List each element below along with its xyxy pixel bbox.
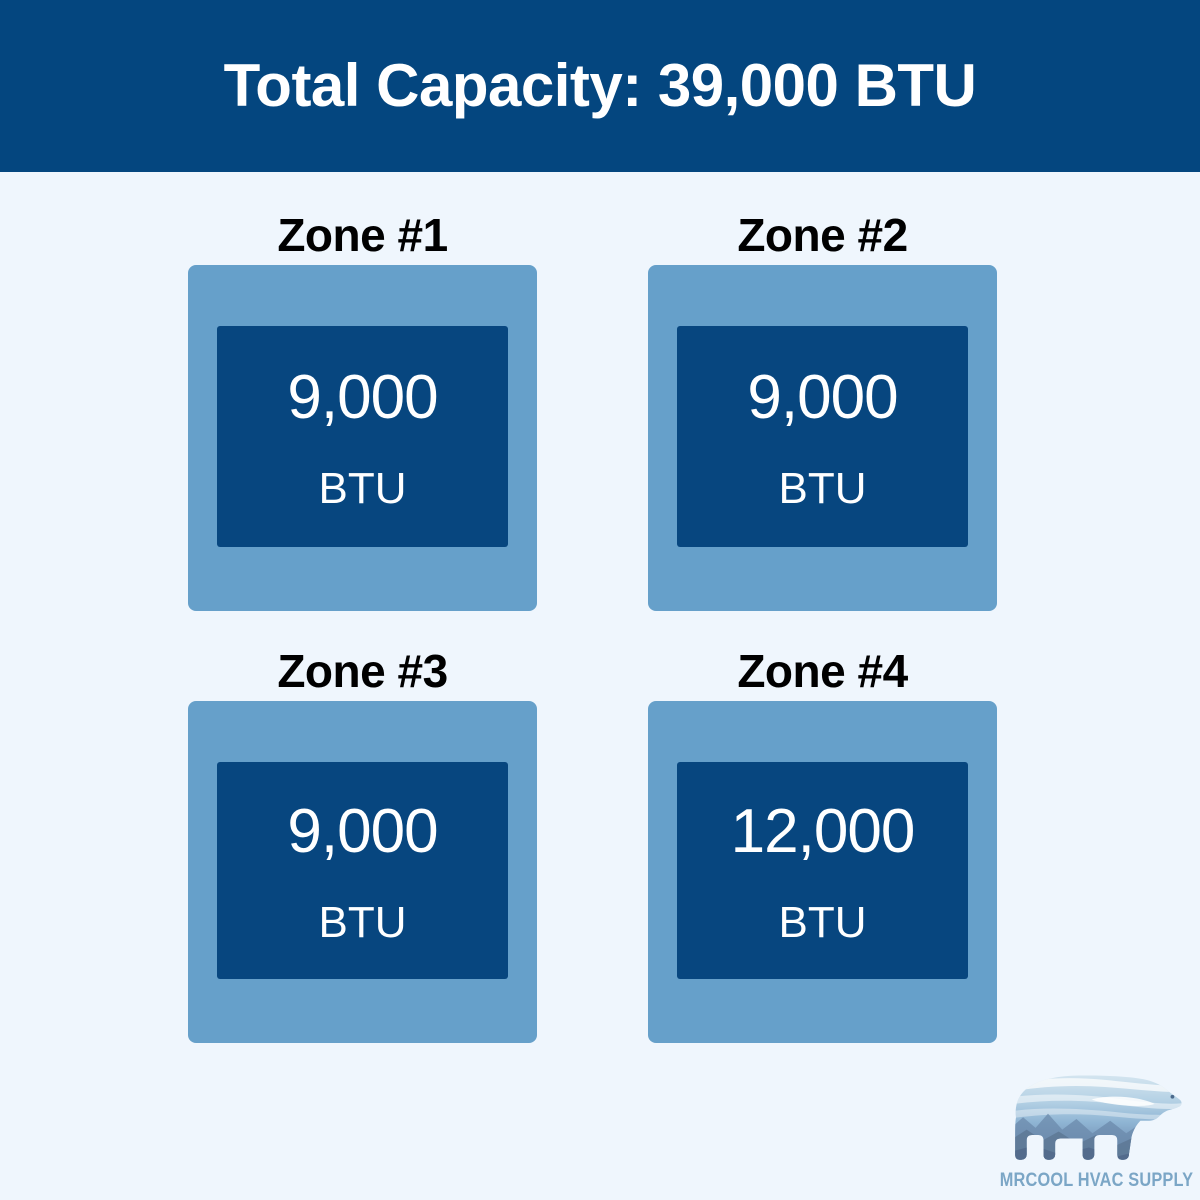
- zone-capacity-unit-2: BTU: [779, 467, 867, 511]
- zone-cell-4: Zone #4 12,000 BTU: [648, 641, 997, 1043]
- zone-capacity-unit-3: BTU: [319, 901, 407, 945]
- zone-grid: Zone #1 9,000 BTU Zone #2 9,000 BTU Zone…: [188, 205, 997, 1043]
- zone-capacity-value-2: 9,000: [747, 367, 897, 429]
- polar-bear-icon: [1007, 1055, 1185, 1167]
- zone-card-4[interactable]: 12,000 BTU: [648, 701, 997, 1043]
- zone-cell-2: Zone #2 9,000 BTU: [648, 205, 997, 611]
- zone-card-3[interactable]: 9,000 BTU: [188, 701, 537, 1043]
- zone-label-1: Zone #1: [277, 205, 447, 265]
- zone-capacity-unit-1: BTU: [319, 467, 407, 511]
- page-title: Total Capacity: 39,000 BTU: [224, 56, 977, 116]
- zone-capacity-value-3: 9,000: [287, 801, 437, 863]
- zone-capacity-box-2: 9,000 BTU: [677, 326, 968, 547]
- zone-capacity-box-4: 12,000 BTU: [677, 762, 968, 979]
- bear-eye-icon: [1171, 1095, 1175, 1099]
- zone-label-4: Zone #4: [737, 641, 907, 701]
- zone-capacity-box-1: 9,000 BTU: [217, 326, 508, 547]
- zone-row-top: Zone #1 9,000 BTU Zone #2 9,000 BTU: [188, 205, 997, 611]
- zone-cell-3: Zone #3 9,000 BTU: [188, 641, 537, 1043]
- zone-row-bottom: Zone #3 9,000 BTU Zone #4 12,000 BTU: [188, 641, 997, 1043]
- zone-card-2[interactable]: 9,000 BTU: [648, 265, 997, 611]
- zone-cell-1: Zone #1 9,000 BTU: [188, 205, 537, 611]
- zone-capacity-value-4: 12,000: [731, 801, 915, 863]
- bear-fill: [1007, 1055, 1185, 1167]
- zone-label-2: Zone #2: [737, 205, 907, 265]
- zone-capacity-value-1: 9,000: [287, 367, 437, 429]
- zone-capacity-unit-4: BTU: [779, 901, 867, 945]
- brand-logo-text: MRCOOL HVAC SUPPLY: [999, 1170, 1192, 1192]
- zone-capacity-box-3: 9,000 BTU: [217, 762, 508, 979]
- zone-card-1[interactable]: 9,000 BTU: [188, 265, 537, 611]
- header-bar: Total Capacity: 39,000 BTU: [0, 0, 1200, 172]
- brand-logo: MRCOOL HVAC SUPPLY: [998, 1040, 1194, 1192]
- zone-label-3: Zone #3: [277, 641, 447, 701]
